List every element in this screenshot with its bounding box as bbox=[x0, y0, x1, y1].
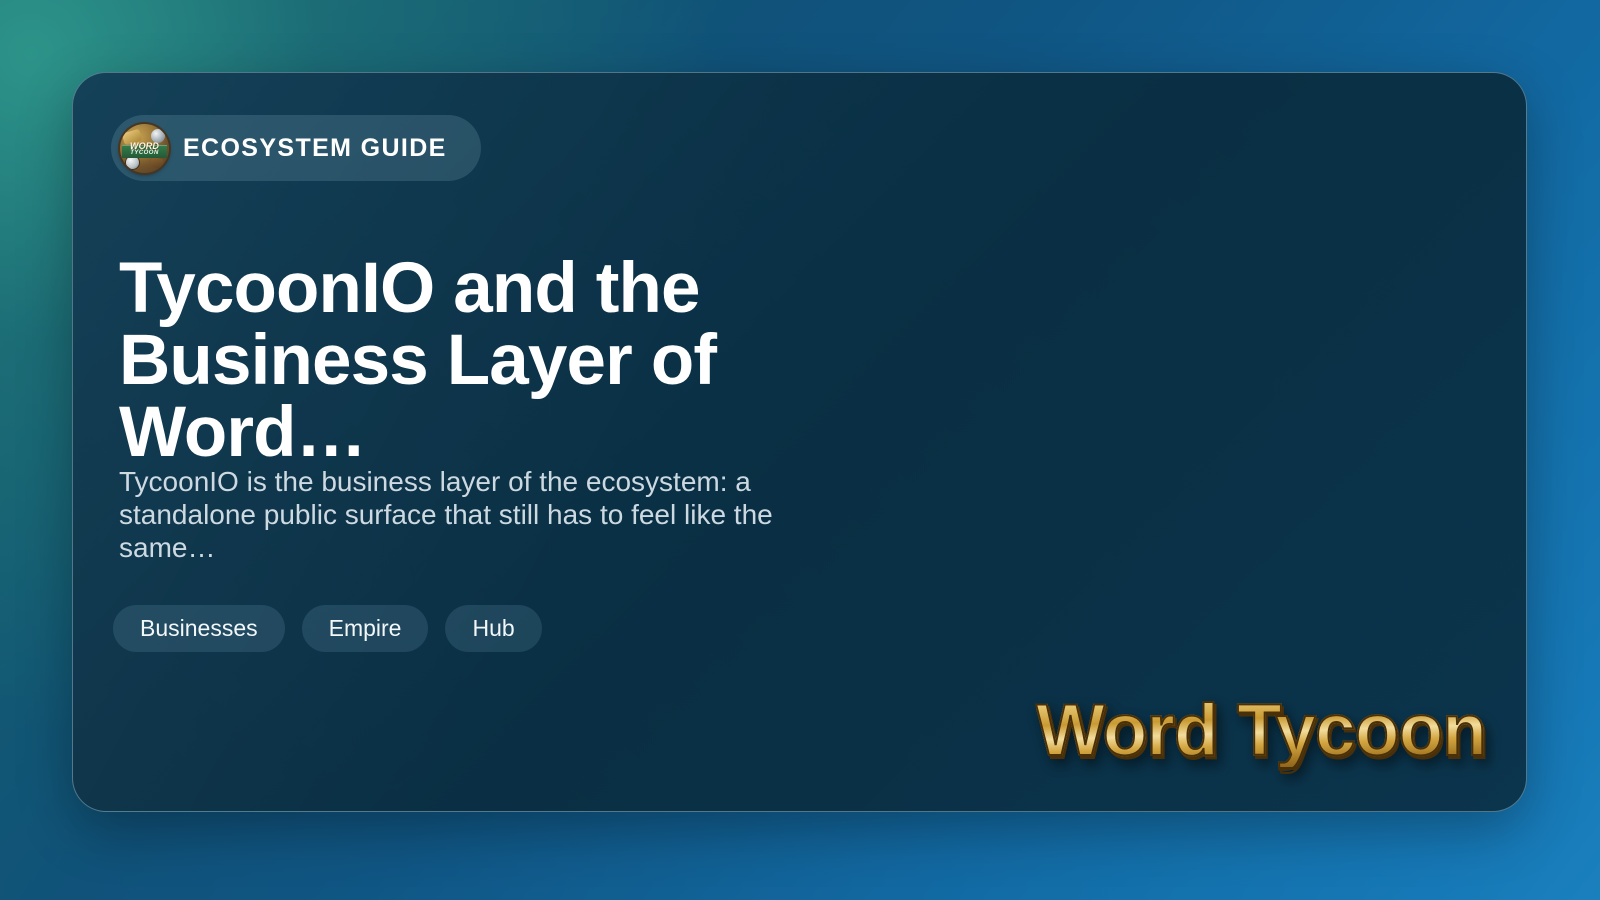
eyebrow-badge[interactable]: WORD TYCOON ECOSYSTEM GUIDE bbox=[111, 115, 481, 181]
crate-shape bbox=[150, 156, 164, 168]
brand-wordmark: Word Tycoon bbox=[1036, 694, 1486, 767]
eyebrow-label: ECOSYSTEM GUIDE bbox=[183, 134, 447, 163]
page-background: WORD TYCOON ECOSYSTEM GUIDE TycoonIO and… bbox=[0, 0, 1600, 900]
tag-empire[interactable]: Empire bbox=[302, 605, 429, 652]
word-tycoon-coin-logo-icon: WORD TYCOON bbox=[120, 124, 169, 173]
tag-hub[interactable]: Hub bbox=[445, 605, 541, 652]
guide-card: WORD TYCOON ECOSYSTEM GUIDE TycoonIO and… bbox=[72, 72, 1527, 812]
tag-list: Businesses Empire Hub bbox=[113, 605, 542, 652]
logo-tycoon-text: TYCOON bbox=[120, 150, 169, 156]
page-title: TycoonIO and the Business Layer of Word… bbox=[119, 253, 819, 469]
tag-businesses[interactable]: Businesses bbox=[113, 605, 285, 652]
page-description: TycoonIO is the business layer of the ec… bbox=[119, 465, 864, 564]
